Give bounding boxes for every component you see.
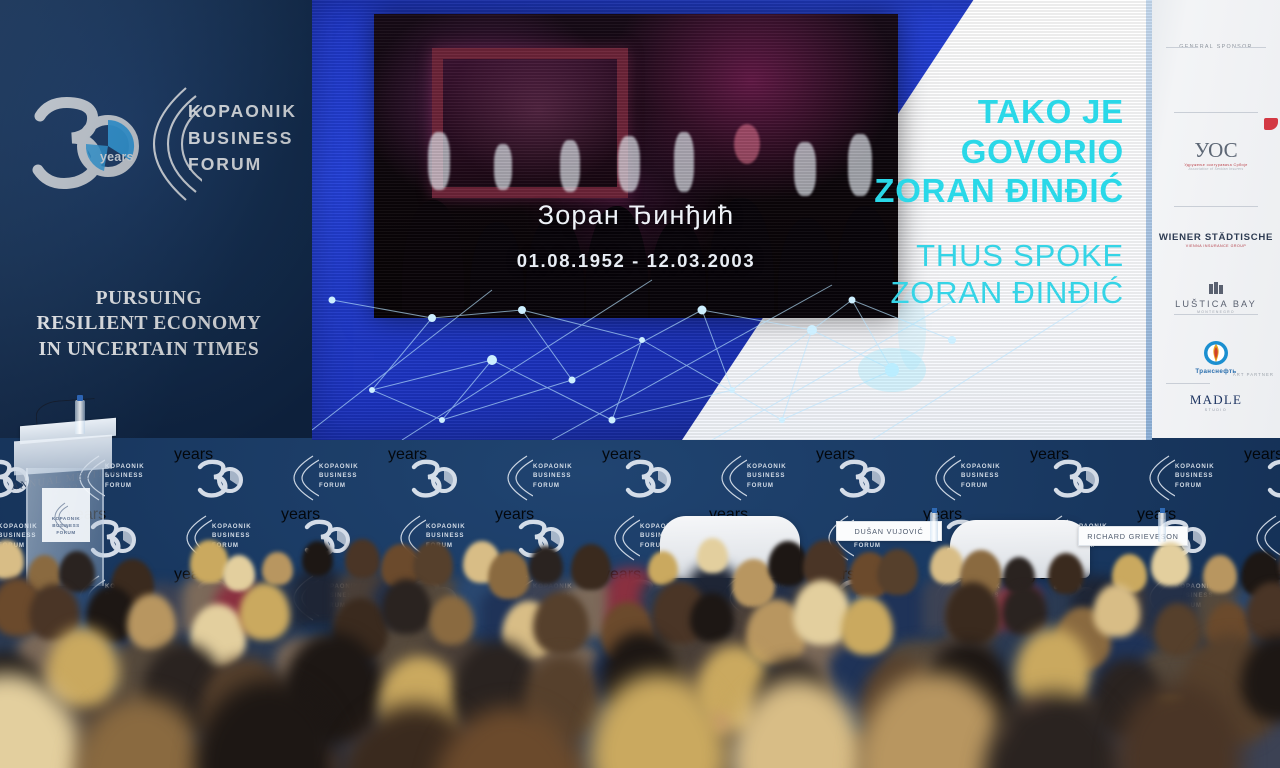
audience-head [571, 544, 612, 590]
tagline-line-1: PURSUING [0, 286, 298, 311]
event-tagline: PURSUING RESILIENT ECONOMY IN UNCERTAIN … [0, 286, 298, 362]
highlight [848, 134, 872, 196]
transneft-emblem-icon [1203, 340, 1229, 366]
audience-head [930, 546, 964, 585]
highlight [618, 136, 640, 192]
slide-title-sr-line-2: GOVORIO [874, 132, 1124, 172]
highlight [428, 132, 450, 190]
backdrop-30-years-logo: years [174, 446, 281, 506]
sponsor-logo-uos: УОС Удружење осигуравача Србије Associat… [1152, 138, 1280, 171]
sponsor-name: УОС [1152, 138, 1280, 163]
divider [1166, 47, 1198, 48]
highlight [674, 132, 694, 192]
thirty-years-logo-icon [624, 458, 676, 498]
thirty-years-logo-icon [1266, 458, 1280, 498]
tagline-line-2: RESILIENT ECONOMY [0, 311, 298, 336]
audience-head [413, 541, 452, 585]
sponsor-name: LUŠTICA BAY [1152, 299, 1280, 309]
logo-arc-icon [931, 454, 961, 502]
divider [1174, 206, 1258, 207]
highlight [794, 142, 816, 196]
kopaonik-business-forum-logo: years KOPAONIK BUSINESS FORUM [30, 84, 280, 204]
thirty-years-logo-icon [196, 458, 248, 498]
logo-arc-icon [503, 454, 533, 502]
thirty-years-logo-icon [30, 94, 140, 192]
backdrop-30-years-logo: years [1244, 446, 1280, 506]
backdrop-brand-logo: KOPAONIKBUSINESSFORUM [1137, 446, 1244, 506]
led-presentation-screen: Зоран Ђинђић 01.08.1952 - 12.03.2003 TAK… [312, 0, 1152, 440]
logo-arc-icon [289, 454, 319, 502]
sponsor-subtitle: VIENNA INSURANCE GROUP [1152, 244, 1280, 248]
logo-arc-icon [717, 454, 747, 502]
art-partner-label: ART PARTNER [1233, 372, 1274, 377]
audience-head [841, 597, 892, 655]
audience-head [648, 551, 679, 586]
audience-head [1093, 584, 1140, 637]
backdrop-logo-row: yearsKOPAONIKBUSINESSFORUMyearsKOPAONIKB… [0, 446, 1280, 506]
logo-arc-icon [1145, 454, 1175, 502]
sponsor-logo-madle: MADLE STUDIO [1152, 392, 1280, 412]
backdrop-brand-logo: KOPAONIKBUSINESSFORUM [495, 446, 602, 506]
divider [1234, 47, 1266, 48]
sponsor-subtitle: STUDIO [1152, 408, 1280, 412]
sponsor-wall: GENERAL SPONSOR УОС Удружење осигуравача… [1152, 0, 1280, 438]
slide-title-sr-line-3: ZORAN ĐINĐIĆ [874, 171, 1124, 211]
backdrop-brand-logo: KOPAONIKBUSINESSFORUM [281, 446, 388, 506]
audience-head [768, 541, 808, 586]
logo-years-label: years [100, 150, 134, 164]
video-picture-frame [432, 48, 628, 198]
sponsor-logo-transneft: Транснефть [1152, 340, 1280, 375]
audience-head [877, 549, 918, 595]
backdrop-30-years-logo: years [1030, 446, 1137, 506]
sponsor-logo-lustica-bay: LUŠTICA BAY MONTENEGRO [1152, 282, 1280, 314]
backdrop-30-years-logo: years [388, 446, 495, 506]
thirty-years-logo-icon [410, 458, 462, 498]
tagline-line-3: IN UNCERTAIN TIMES [0, 337, 298, 362]
audience-head [697, 538, 728, 573]
slide-title-serbian: TAKO JE GOVORIO ZORAN ĐINĐIĆ [874, 92, 1124, 211]
slide-title-sr-line-1: TAKO JE [874, 92, 1124, 132]
backdrop-brand-logo: KOPAONIKBUSINESSFORUM [709, 446, 816, 506]
brand-line-1: KOPAONIK [188, 98, 297, 125]
audience-head [529, 546, 563, 584]
audience-head [430, 595, 474, 644]
backdrop-wordmark: KOPAONIKBUSINESSFORUM [533, 462, 573, 490]
highlight [560, 140, 580, 192]
highlight [494, 144, 512, 190]
audience-head [488, 551, 530, 599]
slide-title-english: THUS SPOKE ZORAN ĐINĐIĆ [874, 237, 1124, 311]
backdrop-wordmark: KOPAONIKBUSINESSFORUM [961, 462, 1001, 490]
thirty-years-logo-icon [838, 458, 890, 498]
sponsor-subtitle: MONTENEGRO [1152, 310, 1280, 314]
divider [1174, 112, 1258, 113]
audience-head [47, 627, 120, 707]
slide-headline-block: TAKO JE GOVORIO ZORAN ĐINĐIĆ THUS SPOKE … [874, 92, 1124, 311]
audience-head [262, 552, 292, 586]
audience-head [302, 541, 333, 576]
brand-line-3: FORUM [188, 151, 297, 178]
conference-photo-scene: yearsKOPAONIKBUSINESSFORUMyearsKOPAONIKB… [0, 0, 1280, 768]
backdrop-wordmark: KOPAONIKBUSINESSFORUM [319, 462, 359, 490]
brand-line-2: BUSINESS [188, 125, 297, 152]
backdrop-brand-logo: KOPAONIKBUSINESSFORUM [923, 446, 1030, 506]
audience-head [1151, 542, 1191, 586]
memorial-name: Зоран Ђинђић [374, 200, 898, 231]
highlight [734, 124, 760, 164]
thirty-years-logo-icon [1052, 458, 1104, 498]
water-bottle [75, 400, 85, 434]
audience-head [345, 539, 380, 578]
audience-crowd [0, 500, 1280, 768]
backdrop-30-years-logo: years [602, 446, 709, 506]
slide-title-en-line-1: THUS SPOKE [874, 237, 1124, 274]
sponsor-subtitle-en: Association of Serbian Insurers [1152, 167, 1280, 171]
audience-head [945, 582, 1000, 643]
audience-head [615, 540, 647, 575]
backdrop-wordmark: KOPAONIKBUSINESSFORUM [747, 462, 787, 490]
backdrop-wordmark: KOPAONIKBUSINESSFORUM [1175, 462, 1215, 490]
left-event-banner: years KOPAONIK BUSINESS FORUM PURSUING R… [0, 0, 312, 438]
audience-head [1079, 544, 1115, 585]
lustica-crest-icon [1208, 282, 1224, 296]
sponsor-name: MADLE [1152, 392, 1280, 408]
slide-title-en-line-2: ZORAN ĐINĐIĆ [874, 274, 1124, 311]
decorative-red-mark [1264, 118, 1278, 130]
audience-head [139, 549, 178, 593]
backdrop-30-years-logo: years [816, 446, 923, 506]
audience-head [897, 595, 947, 651]
audience-head [1203, 555, 1237, 593]
sponsor-logo-wiener-stadtische: WIENER STÄDTISCHE VIENNA INSURANCE GROUP [1152, 232, 1280, 248]
memorial-dates: 01.08.1952 - 12.03.2003 [374, 250, 898, 272]
divider [1174, 314, 1258, 315]
audience-head [223, 555, 255, 591]
divider [1166, 383, 1210, 384]
brand-wordmark: KOPAONIK BUSINESS FORUM [188, 98, 297, 178]
audience-head [239, 583, 290, 640]
sponsor-name: WIENER STÄDTISCHE [1152, 232, 1280, 243]
